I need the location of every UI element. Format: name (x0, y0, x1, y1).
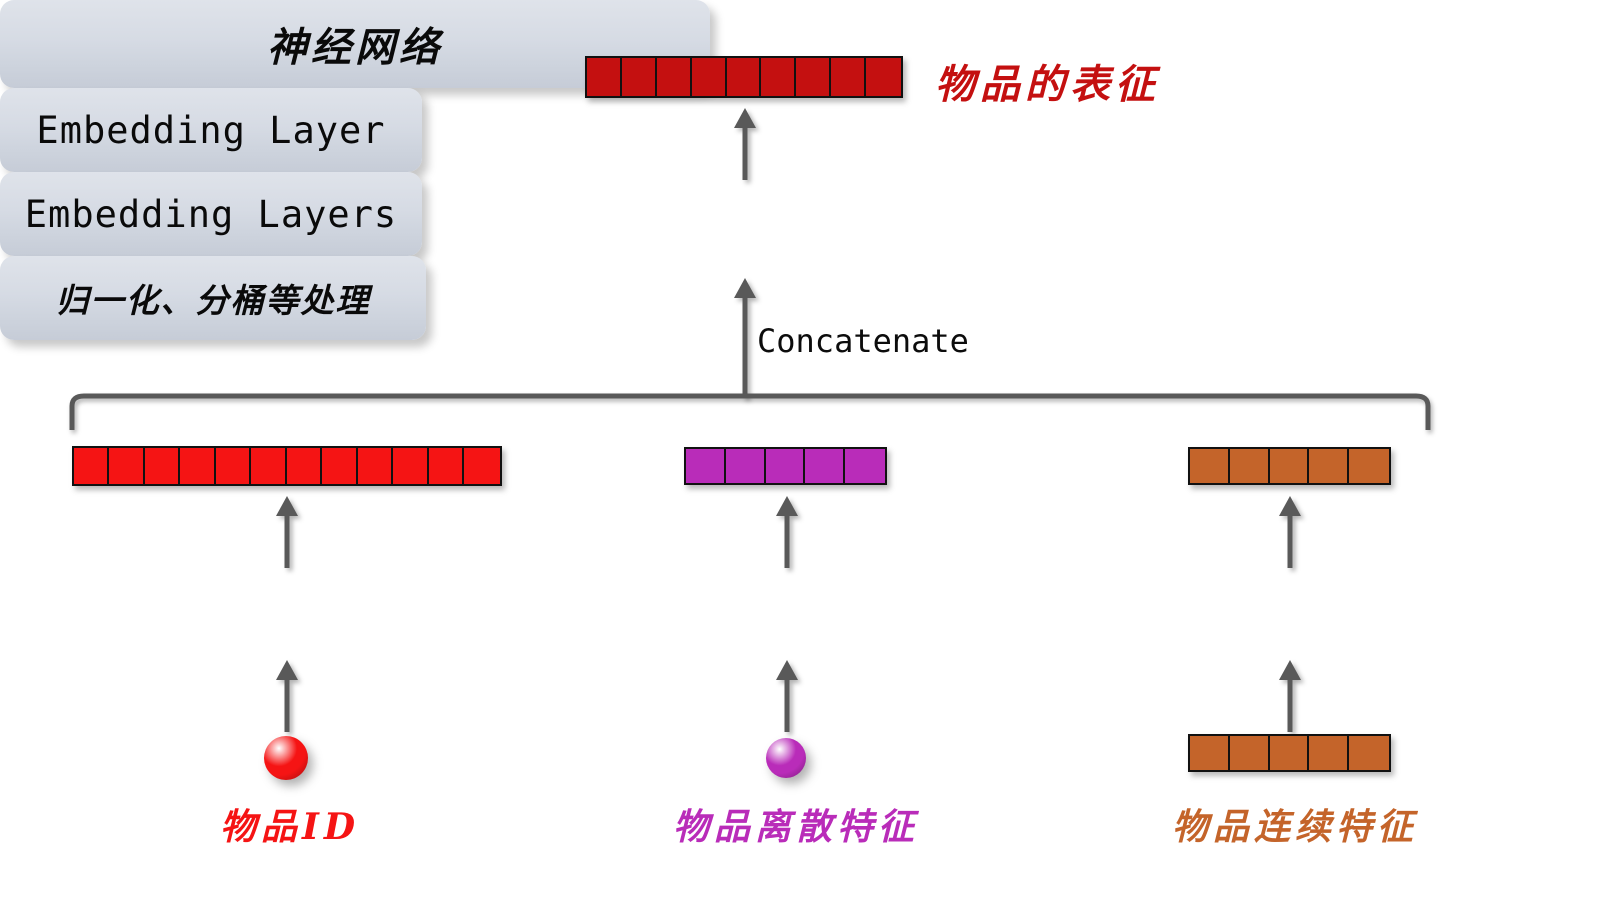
item-representation-cell (761, 58, 796, 96)
item-continuous-caption: 物品连续特征 (1172, 798, 1418, 850)
concatenate-label: Concatenate (757, 322, 969, 360)
item-representation-caption: 物品的表征 (935, 52, 1160, 110)
item-continuous-raw-vector (1188, 734, 1391, 772)
item-id-embedding-cell (393, 448, 428, 484)
embedding-layer-label: Embedding Layer (36, 109, 385, 152)
item-discrete-caption: 物品离散特征 (673, 798, 919, 850)
item-representation-cell (866, 58, 901, 96)
arrow-shaft (785, 676, 790, 732)
item-id-embedding-cell (216, 448, 251, 484)
item-continuous-processed-cell (1190, 449, 1230, 483)
arrow-id-to-embedding (272, 660, 302, 732)
item-id-node (264, 736, 308, 780)
item-representation-cell (796, 58, 831, 96)
brace-svg (60, 388, 1440, 430)
item-id-embedding-cell (251, 448, 286, 484)
item-continuous-processed-cell (1309, 449, 1349, 483)
item-id-embedding-cell (74, 448, 109, 484)
item-continuous-raw-cell (1190, 736, 1230, 770)
item-representation-cell (622, 58, 657, 96)
item-discrete-embedding-cell (766, 449, 806, 483)
item-discrete-node (766, 738, 806, 778)
item-continuous-processed-vector (1188, 447, 1391, 485)
arrow-embedding-to-id-vector (272, 496, 302, 568)
item-id-embedding-cell (429, 448, 464, 484)
item-id-embedding-cell (322, 448, 357, 484)
item-discrete-embedding-vector (684, 447, 887, 485)
normalize-bucketize-label: 归一化、分桶等处理 (56, 274, 371, 322)
normalize-bucketize-box[interactable]: 归一化、分桶等处理 (0, 256, 426, 340)
item-continuous-raw-cell (1349, 736, 1389, 770)
item-representation-cell (692, 58, 727, 96)
item-continuous-processed-cell (1270, 449, 1310, 483)
arrow-shaft (743, 294, 748, 398)
neural-network-label: 神经网络 (267, 15, 443, 73)
item-id-embedding-cell (109, 448, 144, 484)
embedding-layer-box[interactable]: Embedding Layer (0, 88, 422, 172)
item-representation-cell (657, 58, 692, 96)
concat-brace (60, 388, 1440, 430)
arrow-shaft (785, 512, 790, 568)
item-continuous-processed-cell (1349, 449, 1389, 483)
embedding-layers-label: Embedding Layers (25, 193, 397, 236)
arrow-process-to-continuous-vector (1275, 496, 1305, 568)
item-representation-cell (727, 58, 762, 96)
item-continuous-raw-cell (1309, 736, 1349, 770)
item-representation-vector (585, 56, 903, 98)
item-id-caption: 物品ID (220, 798, 360, 850)
arrow-discrete-to-embeddings (772, 660, 802, 732)
item-discrete-embedding-cell (805, 449, 845, 483)
arrow-shaft (1288, 676, 1293, 732)
embedding-layers-box[interactable]: Embedding Layers (0, 172, 422, 256)
item-id-embedding-cell (287, 448, 322, 484)
item-id-embedding-vector (72, 446, 502, 486)
item-discrete-embedding-cell (726, 449, 766, 483)
arrow-concat-to-network (730, 278, 760, 398)
item-id-embedding-cell (145, 448, 180, 484)
arrow-shaft (285, 512, 290, 568)
item-representation-cell (831, 58, 866, 96)
arrow-embeddings-to-discrete-vector (772, 496, 802, 568)
item-id-embedding-cell (358, 448, 393, 484)
item-discrete-embedding-cell (845, 449, 885, 483)
item-id-embedding-cell (464, 448, 499, 484)
item-discrete-embedding-cell (686, 449, 726, 483)
item-continuous-processed-cell (1230, 449, 1270, 483)
arrow-shaft (743, 124, 748, 180)
item-representation-cell (587, 58, 622, 96)
item-continuous-raw-cell (1230, 736, 1270, 770)
arrow-shaft (285, 676, 290, 732)
arrow-continuous-to-process (1275, 660, 1305, 732)
diagram-canvas: 物品的表征 神经网络 Concatenate Embedding Layer 物… (0, 0, 1598, 898)
item-continuous-raw-cell (1270, 736, 1310, 770)
arrow-shaft (1288, 512, 1293, 568)
item-id-embedding-cell (180, 448, 215, 484)
arrow-network-to-output (730, 108, 760, 180)
